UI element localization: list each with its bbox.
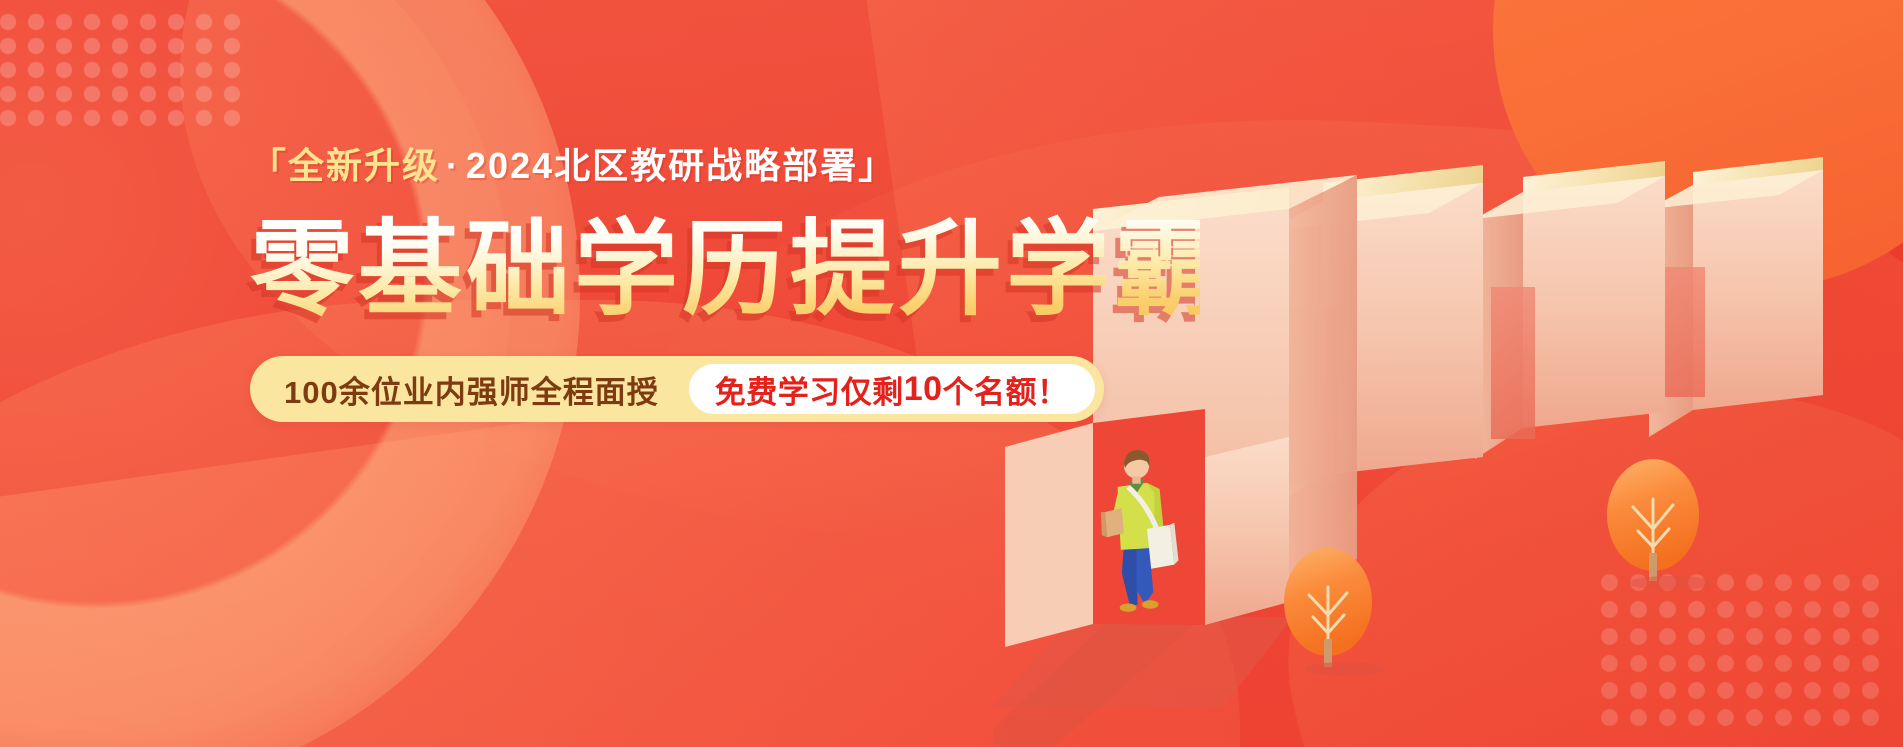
subtitle-highlight: 全新升级 xyxy=(288,145,440,186)
pill-left-label: 100余位业内强师全程面授 xyxy=(284,367,689,412)
tree-left xyxy=(1284,548,1385,676)
book-arch-3 xyxy=(1475,161,1665,459)
subtitle-white-text: 2024北区教研战略部署 xyxy=(466,145,858,186)
pill-right-prefix: 免费学习仅剩 xyxy=(715,367,904,412)
subtitle-separator: · xyxy=(440,145,466,186)
subtitle-bracket-open: 「 xyxy=(250,145,288,186)
pill-right-number: 10 xyxy=(904,370,943,409)
promo-banner: 「全新升级·2024北区教研战略部署」 零基础学历提升学霸班 100余位业内强师… xyxy=(0,0,1903,747)
banner-headline: 零基础学历提升学霸班 xyxy=(250,214,1200,326)
book-arch-4 xyxy=(1649,157,1823,437)
banner-highlight-pill[interactable]: 100余位业内强师全程面授 免费学习仅剩10个名额！ xyxy=(250,356,1104,422)
banner-copy-block: 「全新升级·2024北区教研战略部署」 零基础学历提升学霸班 100余位业内强师… xyxy=(250,148,1200,422)
tree-right xyxy=(1607,459,1713,590)
banner-subtitle: 「全新升级·2024北区教研战略部署」 xyxy=(250,148,1200,184)
dot-grid-top-left xyxy=(0,10,244,132)
subtitle-bracket-close: 」 xyxy=(858,145,896,186)
pill-right-suffix: 个名额！ xyxy=(943,367,1069,412)
pill-right-badge[interactable]: 免费学习仅剩10个名额！ xyxy=(689,364,1095,414)
